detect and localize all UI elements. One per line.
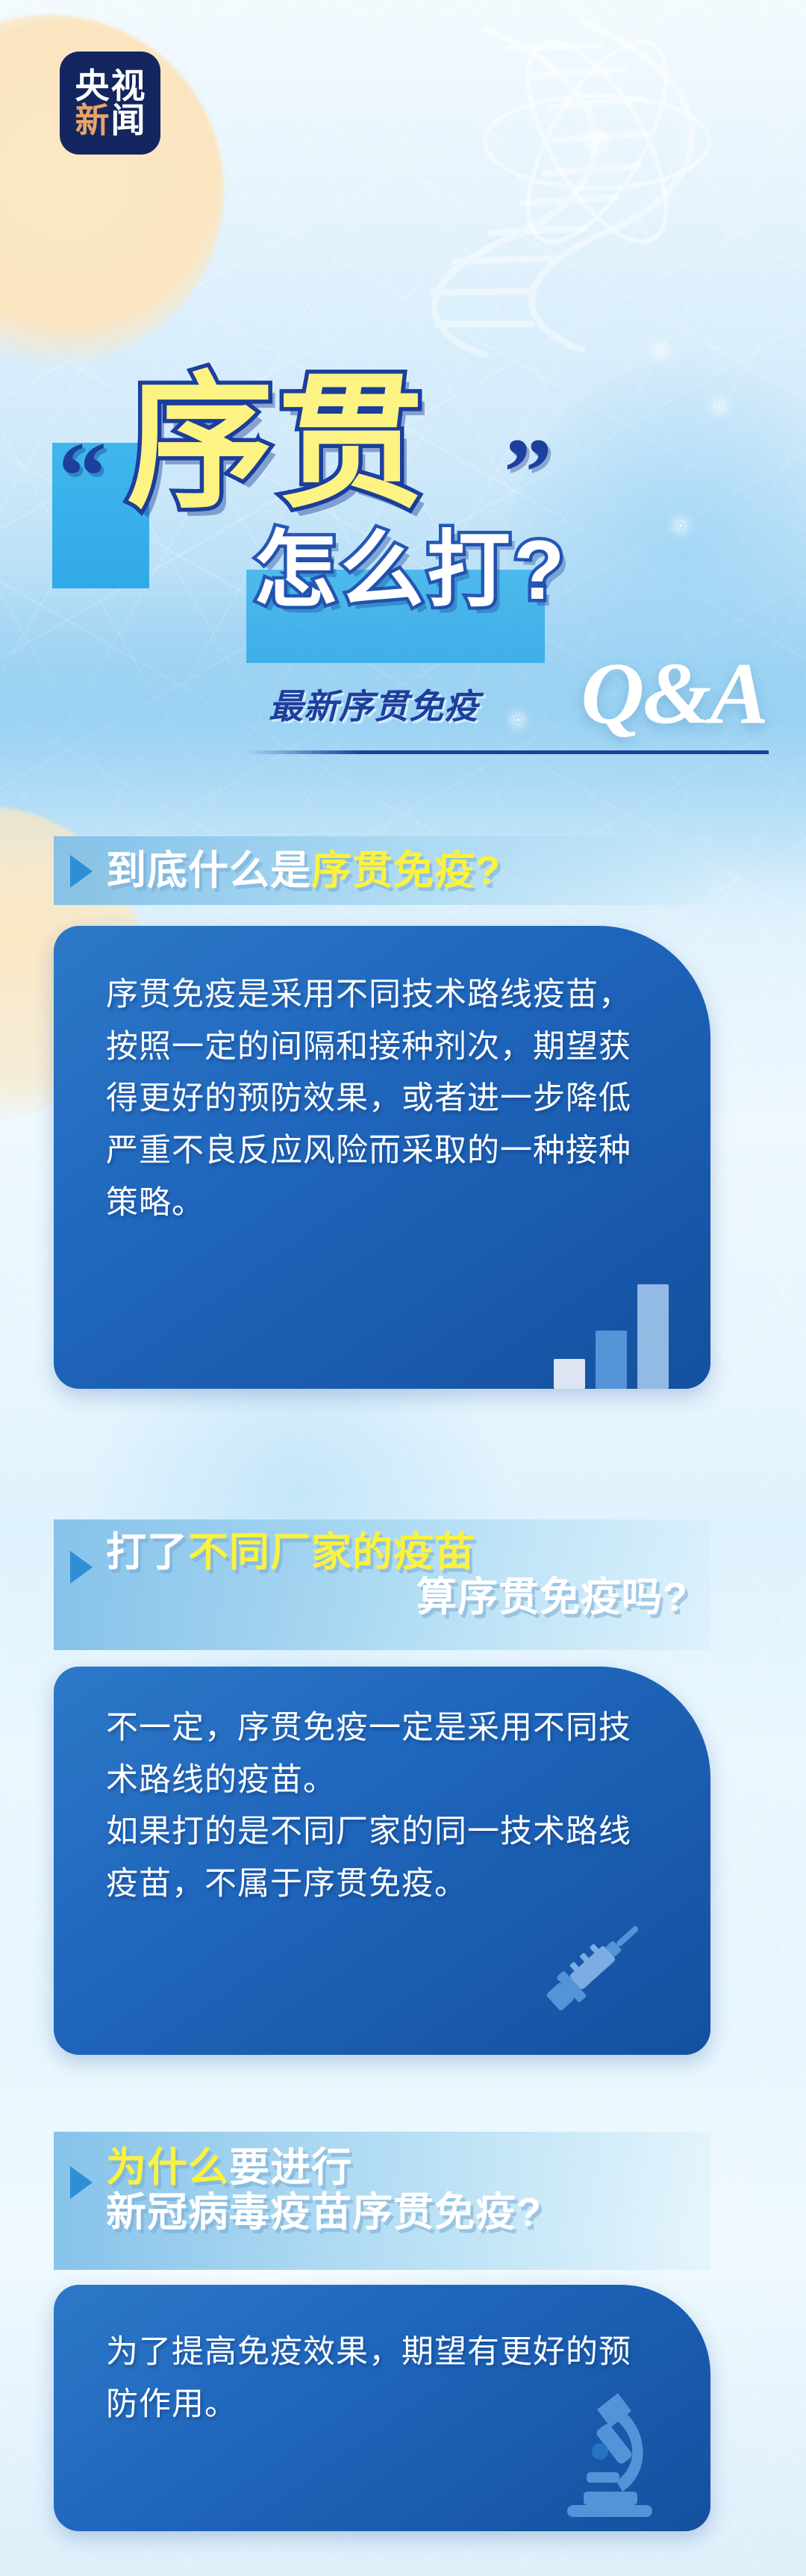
logo-char-shi: 视 [111,69,146,103]
question-segment-highlight: 为什么 [106,2145,229,2190]
quote-open-mark: “ [58,428,107,525]
answer-card-1: 序贯免疫是采用不同技术路线疫苗，按照一定的间隔和接种剂次，期望获得更好的预防效果… [54,926,710,1389]
answer-body-1: 序贯免疫是采用不同技术路线疫苗，按照一定的间隔和接种剂次，期望获得更好的预防效果… [54,926,710,1272]
logo-line-1: 央 视 [75,69,146,103]
answer-paragraph: 如果打的是不同厂家的同一技术路线疫苗，不属于序贯免疫。 [106,1806,658,1910]
hero-main-title: 序贯 [127,370,428,517]
logo-char-xin: 新 [75,103,110,137]
question-text-3: 为什么要进行 新冠病毒疫苗序贯免疫? [106,2145,542,2236]
question-text-1: 到底什么是序贯免疫? [106,848,501,893]
question-line: 为什么要进行 [106,2145,542,2190]
answer-paragraph: 不一定，序贯免疫一定是采用不同技术路线的疫苗。 [106,1702,658,1806]
question-line: 新冠病毒疫苗序贯免疫? [106,2190,542,2235]
logo-char-yang: 央 [75,69,110,103]
question-header-2[interactable]: 打了不同厂家的疫苗 算序贯免疫吗? [54,1519,710,1650]
question-line: 到底什么是序贯免疫? [106,848,501,893]
question-segment-plain: 到底什么是 [106,848,311,893]
qa-label-text: 最新序贯免疫 [269,689,479,724]
qa-subheader: Q&A 最新序贯免疫 [0,650,806,769]
qa-divider-rule [246,750,769,754]
answer-paragraph: 为了提高免疫效果，期望有更好的预防作用。 [106,2327,658,2430]
answer-paragraph: 序贯免疫是采用不同技术路线疫苗，按照一定的间隔和接种剂次，期望获得更好的预防效果… [106,969,658,1229]
answer-card-2: 不一定，序贯免疫一定是采用不同技术路线的疫苗。 如果打的是不同厂家的同一技术路线… [54,1667,710,2055]
bar-chart-icon [554,1284,669,1389]
question-segment-highlight: 不同厂家的疫苗 [188,1530,475,1575]
question-segment-plain: 要进行 [229,2145,352,2190]
question-header-3[interactable]: 为什么要进行 新冠病毒疫苗序贯免疫? [54,2132,710,2270]
question-text-2: 打了不同厂家的疫苗 算序贯免疫吗? [106,1530,710,1620]
arrow-marker-icon [70,1551,93,1584]
answer-body-2: 不一定，序贯免疫一定是采用不同技术路线的疫苗。 如果打的是不同厂家的同一技术路线… [54,1667,710,1947]
quote-close-mark: ” [504,424,552,521]
qa-mark-text: Q&A [581,650,767,738]
question-header-1[interactable]: 到底什么是序贯免疫? [54,836,710,905]
question-segment-highlight: 序贯免疫? [311,848,501,893]
bottom-spacer [0,2539,806,2566]
hero-sub-title: 怎么打? [254,529,567,612]
arrow-marker-icon [70,2166,93,2199]
cctv-news-logo[interactable]: 央 视 新 闻 [60,52,160,155]
logo-char-wen: 闻 [111,103,146,137]
question-line: 打了不同厂家的疫苗 [106,1530,710,1575]
question-segment-plain: 打了 [106,1530,188,1575]
answer-body-3: 为了提高免疫效果，期望有更好的预防作用。 [54,2285,710,2472]
answer-card-3: 为了提高免疫效果，期望有更好的预防作用。 [54,2285,710,2531]
question-line: 算序贯免疫吗? [106,1575,710,1620]
atom-molecule-icon [470,30,724,254]
arrow-marker-icon [70,855,93,888]
logo-line-2: 新 闻 [75,103,146,137]
hero-title-block: “ ” 序贯 怎么打? [0,282,806,671]
